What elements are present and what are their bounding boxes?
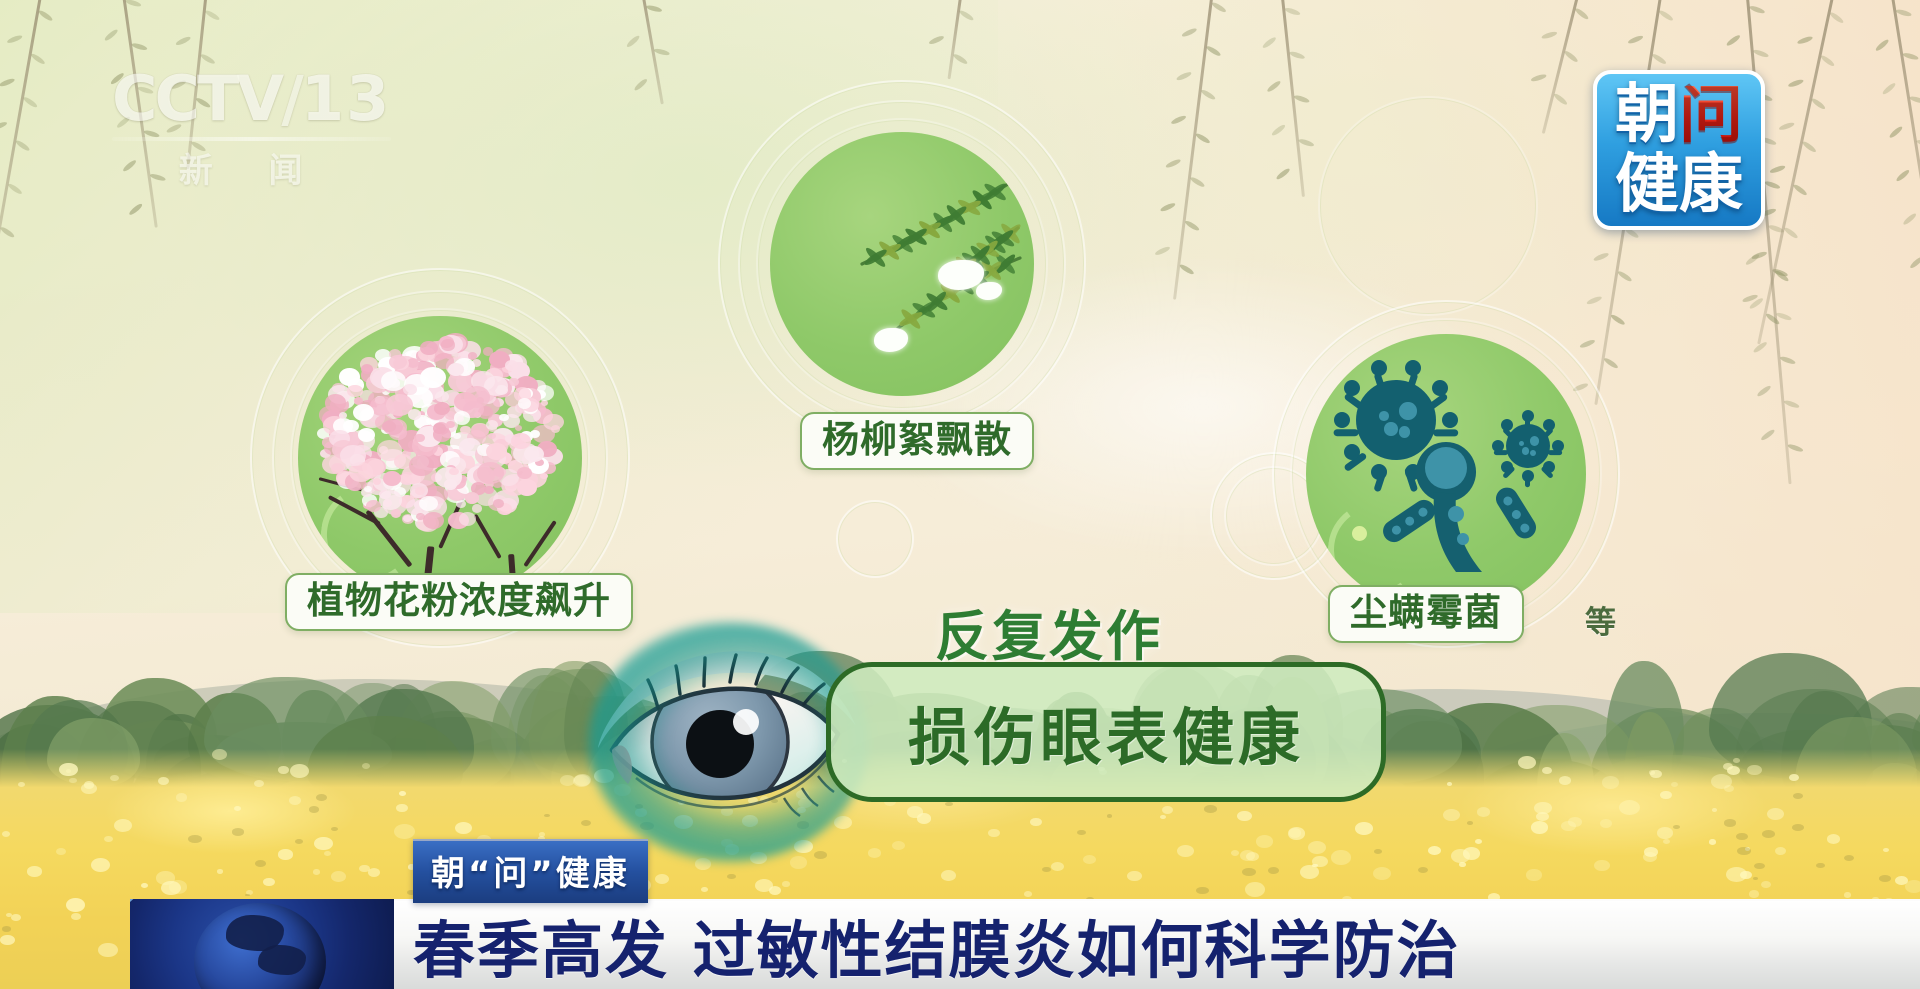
broadcast-frame: CCTV/13 新 闻 朝 问 健康 植物花粉浓度飙升 [0,0,1920,989]
node-catkin [718,80,1086,448]
label-mite-text: 尘螨霉菌 [1350,591,1502,634]
text-recurrence: 反复发作 [935,592,1163,671]
microbe-icon [1306,334,1586,614]
label-mite: 尘螨霉菌 [1328,585,1524,643]
bubble-small-3 [1318,96,1538,316]
show-name-tag: 朝“问”健康 [413,839,648,903]
label-pollen: 植物花粉浓度飙升 [285,573,633,631]
logo-char-chao: 朝 [1615,86,1679,145]
show-name-text: 朝“问”健康 [431,854,630,894]
logo-text-jiankang: 健康 [1615,156,1743,215]
message-damage-text: 损伤眼表健康 [908,687,1304,777]
cctv-divider-bar [112,137,391,141]
cctv13-watermark: CCTV/13 新 闻 [112,62,391,192]
label-pollen-text: 植物花粉浓度飙升 [307,579,611,622]
label-catkin-text: 杨柳絮飘散 [822,418,1012,461]
label-mite-suffix: 等 [1585,597,1616,642]
news-globe-graphic [130,899,394,989]
message-damage-pill: 损伤眼表健康 [826,662,1386,802]
willow-catkin-icon [770,132,1034,396]
spore-dot [1352,526,1367,541]
tadpole-microbe-icon [1306,334,1570,598]
program-logo: 朝 问 健康 [1593,70,1765,230]
cctv-brand-text: CCTV [112,62,281,135]
lower-third: 朝“问”健康 春季高发 过敏性结膜炎如何科学防治 [0,877,1920,989]
cctv-sub-label: 新 闻 [112,143,391,192]
logo-char-wen: 问 [1679,86,1743,145]
cherry-blossom-tree-icon [298,316,582,600]
bubble-small-1 [836,500,914,578]
label-catkin: 杨柳絮飘散 [800,412,1034,470]
headline-text: 春季高发 过敏性结膜炎如何科学防治 [413,918,1461,983]
willow-branches-svg [770,132,1034,396]
cctv-channel-number: 13 [301,62,391,135]
